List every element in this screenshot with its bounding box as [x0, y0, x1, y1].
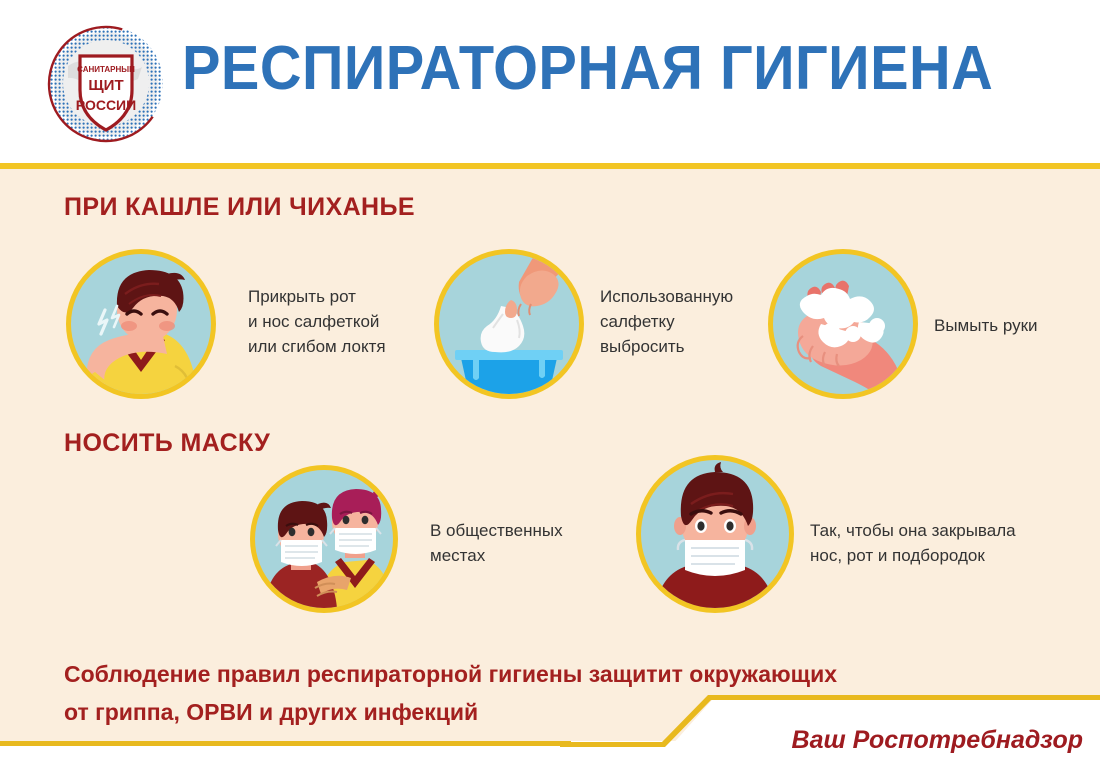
caption-wash-hands: Вымыть руки — [934, 313, 1038, 338]
wash-hands-icon — [773, 254, 913, 394]
icon-circle-two-people-masked — [250, 465, 398, 613]
sanitary-shield-logo: САНИТАРНЫЙ ЩИТ РОССИИ — [38, 18, 174, 148]
icon-circle-mask-fit-face — [636, 455, 794, 613]
mask-fit-face-icon — [641, 460, 789, 608]
discard-tissue-icon — [439, 254, 579, 394]
caption-discard-tissue: Использованную салфетку выбросить — [600, 284, 733, 359]
logo-line-2: ЩИТ — [88, 77, 123, 94]
infographic-poster: САНИТАРНЫЙ ЩИТ РОССИИ РЕСПИРАТОРНАЯ ГИГИ… — [0, 0, 1100, 778]
page-title: РЕСПИРАТОРНАЯ ГИГИЕНА — [182, 38, 993, 100]
sneeze-into-elbow-icon — [71, 254, 211, 394]
section-heading-mask: НОСИТЬ МАСКУ — [64, 429, 270, 458]
icon-circle-wash-hands — [768, 249, 918, 399]
bottom-yellow-divider — [0, 741, 571, 746]
signature-text: Ваш Роспотребнадзор — [792, 726, 1083, 755]
logo-line-3: РОССИИ — [76, 97, 136, 113]
header-bar: САНИТАРНЫЙ ЩИТ РОССИИ РЕСПИРАТОРНАЯ ГИГИ… — [0, 0, 1100, 163]
two-people-masked-icon — [255, 470, 393, 608]
logo-svg: САНИТАРНЫЙ ЩИТ РОССИИ — [38, 18, 174, 148]
icon-circle-discard-tissue — [434, 249, 584, 399]
signature-banner: Ваш Роспотребнадзор — [560, 690, 1100, 778]
section-heading-cough: ПРИ КАШЛЕ ИЛИ ЧИХАНЬЕ — [64, 193, 415, 222]
icon-circle-sneeze-into-elbow — [66, 249, 216, 399]
caption-mask-fit: Так, чтобы она закрывала нос, рот и подб… — [810, 518, 1016, 568]
caption-public-places: В общественных местах — [430, 518, 563, 568]
logo-line-1: САНИТАРНЫЙ — [77, 65, 135, 74]
caption-cover-mouth: Прикрыть рот и нос салфеткой или сгибом … — [248, 284, 386, 359]
